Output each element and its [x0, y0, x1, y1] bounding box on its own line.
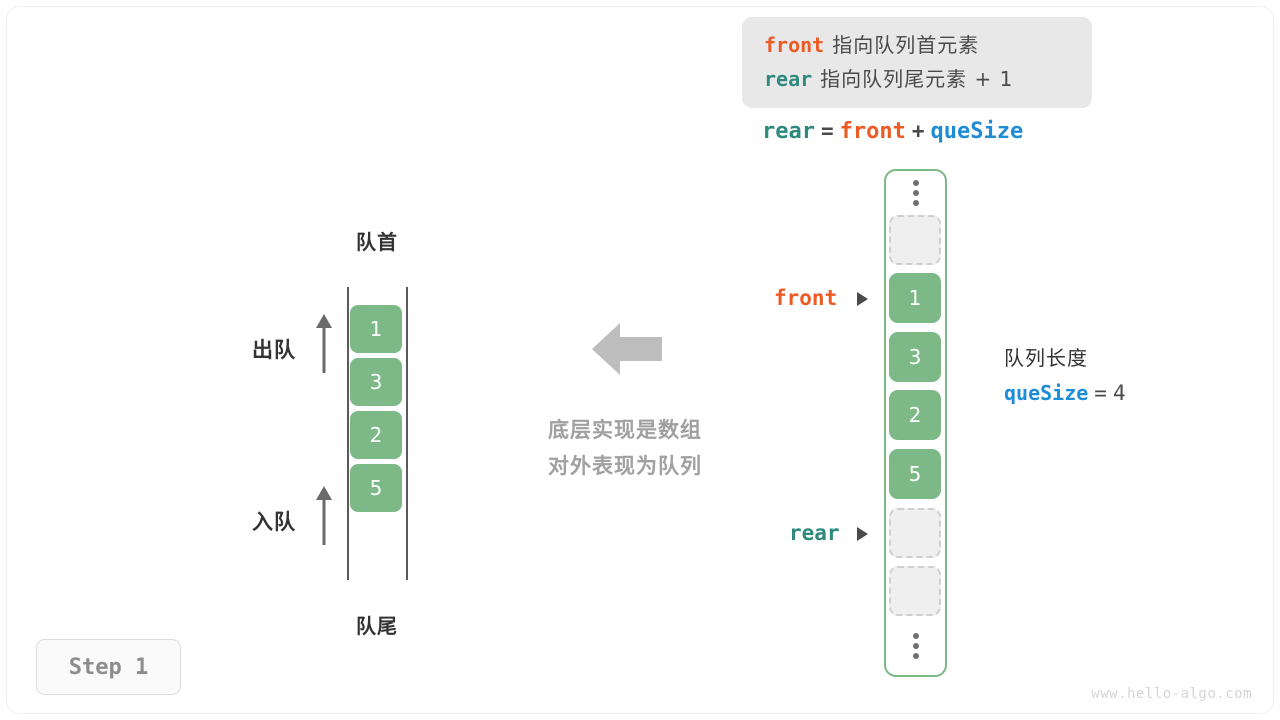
center-caption-line2: 对外表现为队列: [500, 448, 750, 484]
queue-cell: 1: [350, 305, 402, 353]
queue-rail-left: [347, 287, 349, 580]
vertical-ellipsis-icon: [908, 633, 924, 659]
equation-rhs-quesize: queSize: [931, 119, 1024, 144]
equation-rhs-front: front: [840, 119, 906, 144]
rear-pointer-arrow-icon: [857, 527, 868, 541]
enqueue-label: 入队: [252, 506, 296, 536]
queue-head-label: 队首: [345, 226, 409, 255]
array-slot: 2: [889, 390, 941, 440]
array-slot: 3: [889, 332, 941, 382]
pointer-legend-box: front指向队列首元素 rear指向队列尾元素 + 1: [742, 17, 1092, 108]
vertical-ellipsis-icon: [908, 180, 924, 206]
enqueue-arrow-icon: [313, 485, 335, 545]
array-slot: [889, 508, 941, 558]
queue-size-title: 队列长度: [1004, 342, 1126, 371]
legend-rear-desc: 指向队列尾元素 + 1: [812, 67, 1013, 91]
dequeue-arrow-icon: [313, 313, 335, 373]
queue-tail-label: 队尾: [345, 610, 409, 639]
array-slot: 1: [889, 273, 941, 323]
legend-front-line: front指向队列首元素: [764, 29, 979, 58]
equation-lhs: rear: [762, 119, 815, 144]
rear-equation: rear=front+queSize: [762, 118, 1023, 144]
center-caption-line1: 底层实现是数组: [500, 412, 750, 448]
center-caption: 底层实现是数组 对外表现为队列: [500, 412, 750, 484]
queue-cell: 5: [350, 464, 402, 512]
dequeue-label: 出队: [252, 334, 296, 364]
queue-size-value: 4: [1113, 381, 1126, 405]
array-slot: [889, 566, 941, 616]
legend-rear-keyword: rear: [764, 67, 812, 91]
queue-rail-right: [406, 287, 408, 580]
diagram-canvas: front指向队列首元素 rear指向队列尾元素 + 1 rear=front+…: [0, 0, 1280, 720]
legend-front-keyword: front: [764, 33, 824, 57]
equation-plus: +: [906, 119, 931, 143]
equation-equals: =: [815, 119, 840, 143]
legend-rear-line: rear指向队列尾元素 + 1: [764, 63, 1013, 92]
watermark: www.hello-algo.com: [1091, 686, 1252, 702]
queue-size-equals: =: [1088, 381, 1113, 405]
queue-size-note: 队列长度 queSize=4: [1004, 342, 1126, 406]
legend-front-desc: 指向队列首元素: [824, 33, 979, 57]
queue-size-keyword: queSize: [1004, 381, 1088, 405]
rear-pointer-label: rear: [789, 521, 840, 545]
front-pointer-label: front: [774, 286, 837, 310]
left-arrow-icon: [592, 320, 662, 378]
queue-size-equation: queSize=4: [1004, 381, 1126, 406]
array-slot: 5: [889, 449, 941, 499]
front-pointer-arrow-icon: [857, 292, 868, 306]
array-slot: [889, 215, 941, 265]
queue-cell: 2: [350, 411, 402, 459]
queue-cell: 3: [350, 358, 402, 406]
step-badge: Step 1: [36, 639, 181, 695]
